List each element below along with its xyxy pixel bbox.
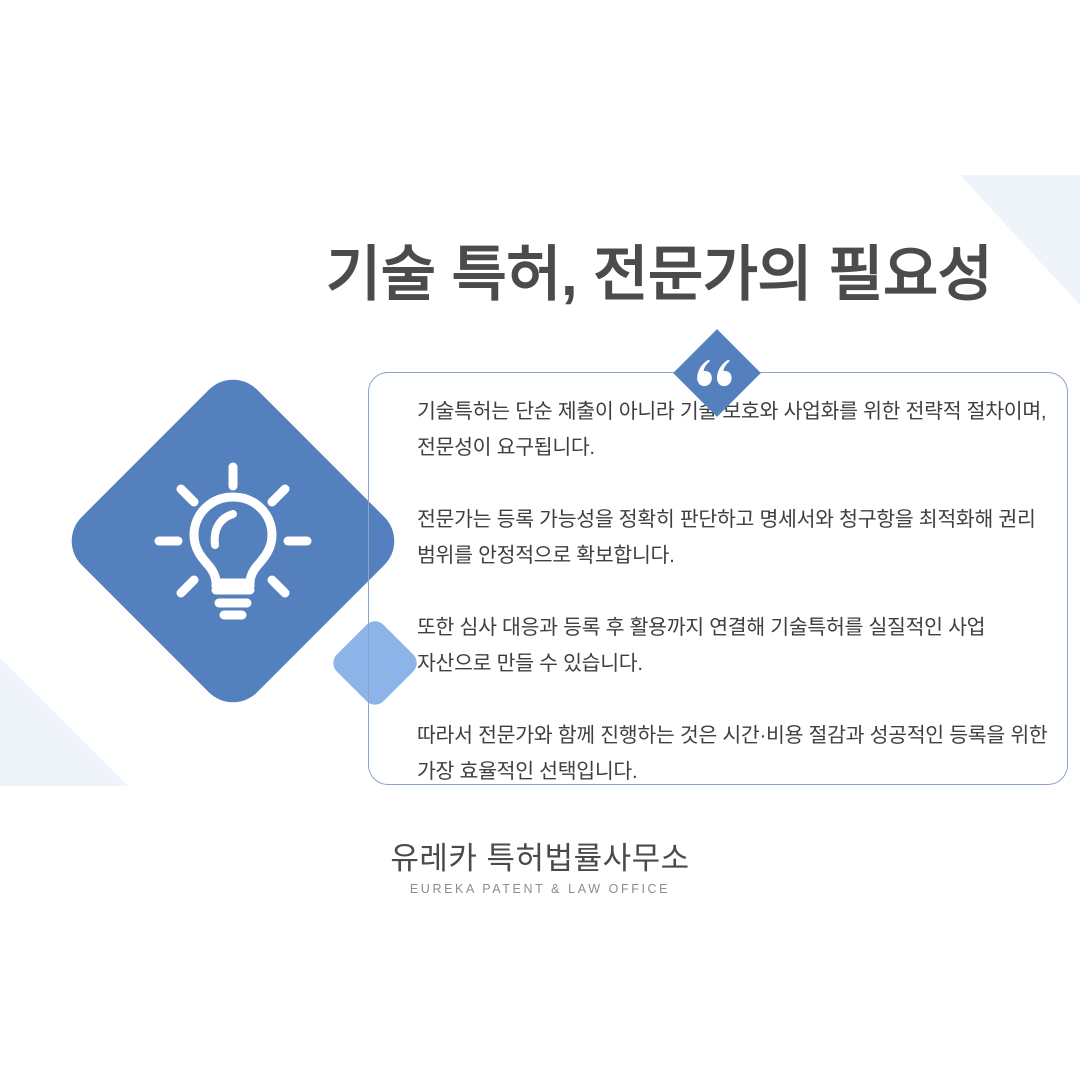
card-paragraph: 전문가는 등록 가능성을 정확히 판단하고 명세서와 청구항을 최적화해 권리 … — [417, 502, 1052, 574]
page-title: 기술 특허, 전문가의 필요성 — [326, 240, 1026, 311]
card-paragraph: 따라서 전문가와 함께 진행하는 것은 시간·비용 절감과 성공적인 등록을 위… — [417, 718, 1052, 790]
firm-name-korean: 유레카 특허법률사무소 — [0, 840, 1080, 879]
card-paragraph-list: 기술특허는 단순 제출이 아니라 기술 보호와 사업화를 위한 전략적 절차이며… — [417, 394, 1052, 790]
lightbulb-icon — [153, 461, 313, 621]
quote-icon — [686, 342, 748, 404]
slide-canvas: 기술 특허, 전문가의 필요성 — [0, 0, 1080, 1080]
card-paragraph: 기술특허는 단순 제출이 아니라 기술 보호와 사업화를 위한 전략적 절차이며… — [417, 394, 1052, 466]
card-paragraph: 또한 심사 대응과 등록 후 활용까지 연결해 기술특허를 실질적인 사업 자산… — [417, 610, 1052, 682]
footer-branding: 유레카 특허법률사무소 EUREKA PATENT & LAW OFFICE — [0, 840, 1080, 896]
firm-name-english: EUREKA PATENT & LAW OFFICE — [0, 882, 1080, 896]
